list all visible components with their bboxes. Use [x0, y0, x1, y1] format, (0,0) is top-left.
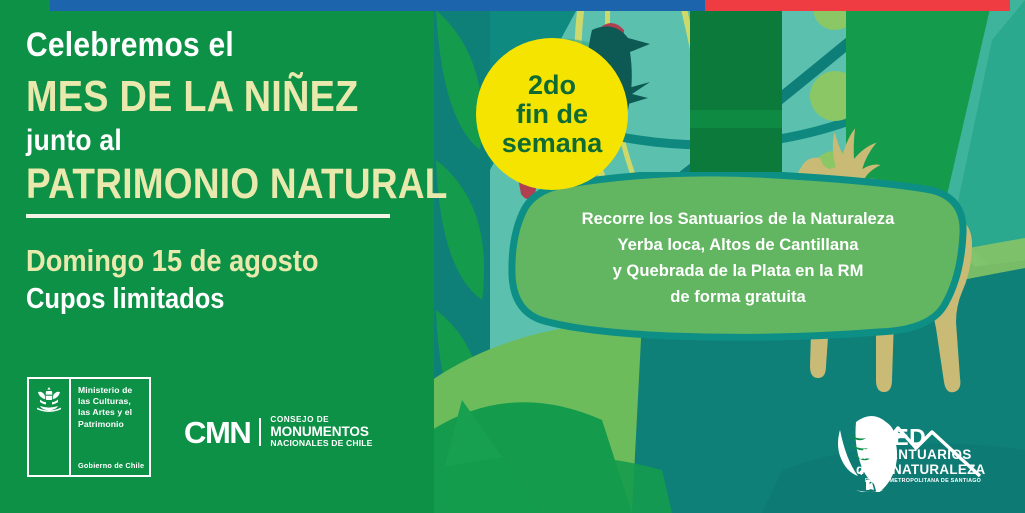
cmn-divider [259, 418, 261, 446]
weekend-badge: 2do fin de semana [476, 38, 628, 190]
ministry-line-3: las Artes y el [78, 407, 149, 418]
left-text-panel: Celebremos el MES DE LA NIÑEZ junto al P… [0, 0, 434, 513]
cmn-line-2: MONUMENTOS [270, 425, 372, 439]
event-capacity: Cupos limitados [26, 283, 225, 316]
callout-line-4: de forma gratuita [670, 284, 806, 310]
ministry-logo: Ministerio de las Culturas, las Artes y … [27, 377, 151, 477]
callout-line-3: y Quebrada de la Plata en la RM [613, 258, 864, 284]
badge-line-1: 2do [528, 70, 576, 100]
callout-panel: Recorre los Santuarios de la Naturaleza … [507, 172, 969, 344]
ministry-footer: Gobierno de Chile [78, 461, 144, 470]
cmn-line-3: NACIONALES DE CHILE [270, 439, 372, 448]
badge-line-2: fin de [516, 99, 588, 129]
badge-line-3: semana [502, 128, 603, 158]
blue-accent-bar [50, 0, 705, 11]
red-logo-line-4: REGIÓN METROPOLITANA DE SANTIAGO [865, 479, 981, 484]
cmn-logo: CMN CONSEJO DE MONUMENTOS NACIONALES DE … [184, 414, 373, 450]
headline-line-1: Celebremos el [26, 26, 234, 65]
red-santuarios-logo: RED de SANTUARIOS de la NATURALEZA REGIÓ… [812, 404, 994, 492]
chile-coat-of-arms-icon [29, 379, 71, 475]
ministry-line-1: Ministerio de [78, 385, 149, 396]
event-date: Domingo 15 de agosto [26, 243, 319, 279]
red-logo-line-2: de SANTUARIOS [858, 448, 972, 461]
headline-line-2: MES DE LA NIÑEZ [26, 72, 359, 122]
cmn-wordmark: CMN [184, 417, 250, 448]
ministry-line-4: Patrimonio [78, 419, 149, 430]
poster-canvas: Celebremos el MES DE LA NIÑEZ junto al P… [0, 0, 1025, 513]
divider-rule [26, 214, 390, 218]
red-logo-line-1: RED [876, 426, 926, 449]
ministry-line-2: las Culturas, [78, 396, 149, 407]
red-logo-line-3: de la NATURALEZA [856, 463, 986, 476]
callout-line-2: Yerba loca, Altos de Cantillana [618, 232, 859, 258]
headline-line-3: junto al [26, 124, 122, 158]
callout-line-1: Recorre los Santuarios de la Naturaleza [582, 206, 895, 232]
red-accent-bar [705, 0, 1010, 11]
headline-line-4: PATRIMONIO NATURAL [26, 160, 448, 209]
